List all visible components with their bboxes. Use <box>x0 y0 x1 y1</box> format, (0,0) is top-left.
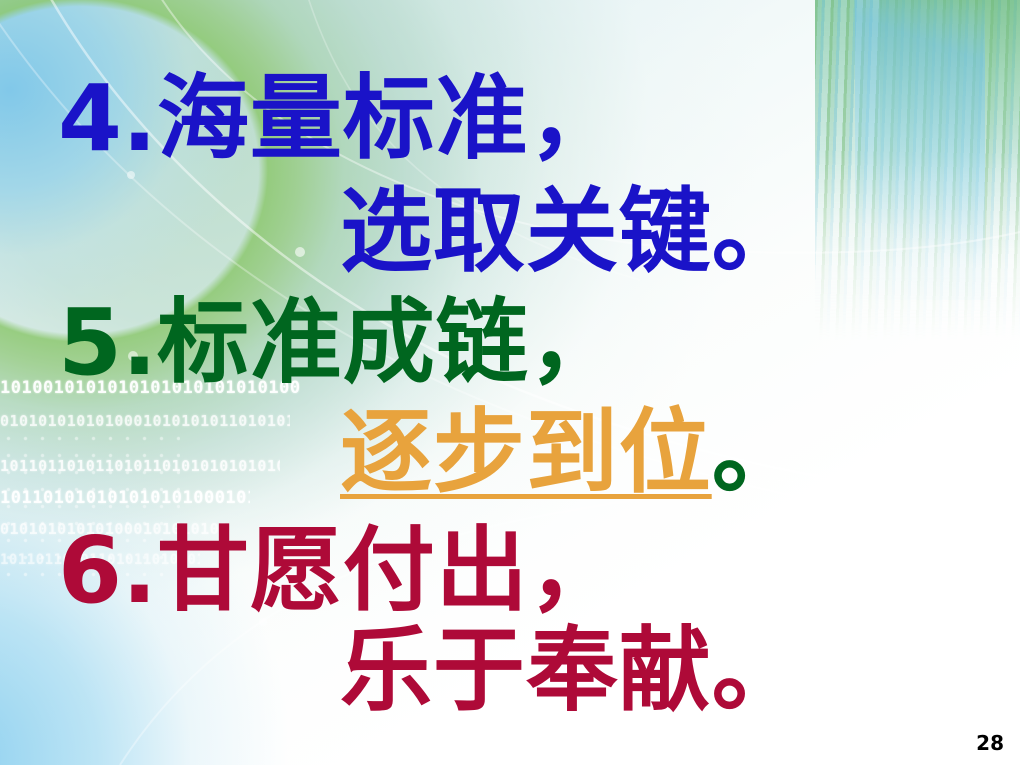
bullet-text-5: 标准成链， <box>157 289 622 396</box>
bullet-text-6-continued: 乐于奉献。 <box>340 617 805 724</box>
bullet-number-5: 5. <box>58 289 157 396</box>
presentation-slide: 101001010101010101010101010010101 010101… <box>0 0 1020 765</box>
bullet-text-4: 海量标准， <box>157 65 622 172</box>
bullet-line-5: 5.标准成链， <box>58 296 622 389</box>
bullet-line-5-continued: 逐步到位。 <box>340 406 805 499</box>
bullet-text-5-period: 。 <box>712 399 805 506</box>
bullet-text-6: 甘愿付出， <box>157 517 622 624</box>
bullet-line-6-continued: 乐于奉献。 <box>340 624 805 717</box>
bullet-text-4-continued: 选取关键。 <box>340 178 805 285</box>
page-number: 28 <box>976 731 1004 755</box>
bullet-number-6: 6. <box>58 517 157 624</box>
bullet-number-4: 4. <box>58 65 157 172</box>
bullet-line-6: 6.甘愿付出， <box>58 524 622 617</box>
bullet-text-5-emphasis: 逐步到位 <box>340 399 712 506</box>
bullet-line-4: 4.海量标准， <box>58 72 622 165</box>
slide-body-text: 4.海量标准， 选取关键。 5.标准成链， 逐步到位。 6.甘愿付出， 乐于奉献… <box>0 0 1020 765</box>
bullet-line-4-continued: 选取关键。 <box>340 185 805 278</box>
